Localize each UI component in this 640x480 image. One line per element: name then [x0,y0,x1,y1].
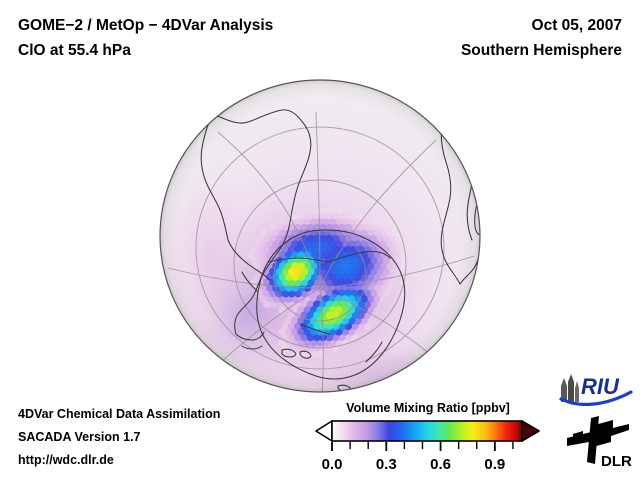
footer-line-method: 4DVar Chemical Data Assimilation [18,403,220,426]
colorbar-tick-label: 0.3 [376,456,397,473]
dlr-wordmark: DLR [601,453,632,470]
species-level-label: ClO at 55.4 hPa [18,38,273,63]
footer-credits: 4DVar Chemical Data Assimilation SACADA … [18,403,220,472]
colorbar-title: Volume Mixing Ratio [ppbv] [312,401,544,415]
header-right: Oct 05, 2007 Southern Hemisphere [461,13,622,63]
riu-tower-icon [561,374,579,402]
footer-line-version: SACADA Version 1.7 [18,426,220,449]
page-title: GOME−2 / MetOp − 4DVar Analysis [18,13,273,38]
colorbar: Volume Mixing Ratio [ppbv] 0.00.30.60.9 [312,401,544,475]
riu-logo: RIU [557,372,635,406]
colorbar-scale[interactable]: 0.00.30.60.9 [312,419,544,475]
figure-canvas: GOME−2 / MetOp − 4DVar Analysis ClO at 5… [0,0,640,480]
colorbar-tick-label: 0.6 [430,456,451,473]
colorbar-ticks [332,442,513,451]
date-label: Oct 05, 2007 [461,13,622,38]
colorbar-gradient [332,421,522,441]
riu-wordmark: RIU [581,374,620,399]
colorbar-under-arrow [316,421,332,441]
dlr-logo: DLR [561,412,635,472]
colorbar-tick-label: 0.9 [484,456,505,473]
orthographic-projection [152,78,488,402]
header-left: GOME−2 / MetOp − 4DVar Analysis ClO at 5… [18,13,273,63]
colorbar-tick-label: 0.0 [322,456,343,473]
colorbar-tick-labels: 0.00.30.60.9 [322,456,506,473]
footer-line-url[interactable]: http://wdc.dlr.de [18,449,220,472]
colorbar-over-arrow [522,421,539,441]
globe-map [152,78,488,402]
region-label: Southern Hemisphere [461,38,622,63]
